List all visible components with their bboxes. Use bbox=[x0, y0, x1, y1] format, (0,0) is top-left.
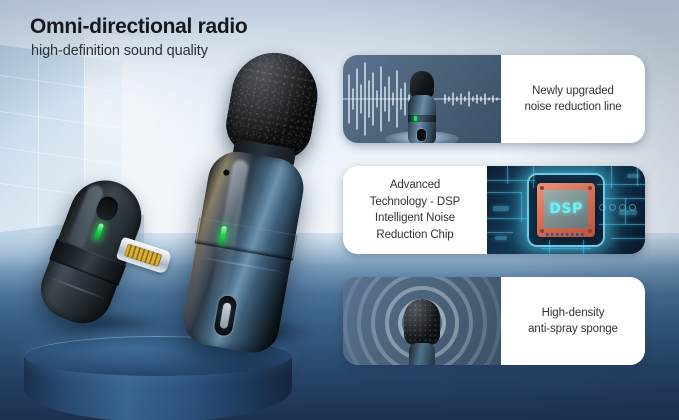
sound-rings-microphone-image bbox=[343, 277, 501, 365]
chip-label: DSP bbox=[549, 201, 582, 217]
page-subtitle: high-definition sound quality bbox=[31, 42, 247, 60]
feature-panel-noise-reduction[interactable]: Newly upgraded noise reduction line bbox=[343, 55, 645, 143]
mini-mic-band bbox=[408, 115, 436, 122]
panel-caption-anti-spray-sponge: High-density anti-spray sponge bbox=[501, 277, 645, 365]
sponge-microphone-graphic bbox=[401, 299, 443, 365]
circuit-board-graphic: DSP bbox=[487, 166, 645, 254]
waveform-mini-microphone bbox=[405, 71, 439, 143]
dsp-circuit-board-image: DSP bbox=[487, 166, 645, 254]
caption-text: Newly upgraded noise reduction line bbox=[524, 83, 621, 116]
panel-caption-noise-reduction: Newly upgraded noise reduction line bbox=[501, 55, 645, 143]
caption-text: High-density anti-spray sponge bbox=[528, 305, 618, 338]
mini-mic-led bbox=[414, 116, 417, 121]
chip-die: DSP bbox=[544, 190, 588, 228]
dsp-chip-icon: DSP bbox=[537, 183, 595, 237]
waveform-microphone-image bbox=[343, 55, 501, 143]
chip-pins bbox=[546, 233, 586, 236]
panel-caption-dsp-chip: Advanced Technology - DSP Intelligent No… bbox=[343, 166, 487, 254]
product-marketing-image: Omni-directional radio high-definition s… bbox=[0, 0, 679, 420]
microphone-lower-body bbox=[409, 343, 435, 365]
caption-text: Advanced Technology - DSP Intelligent No… bbox=[370, 177, 460, 243]
feature-panel-dsp-chip[interactable]: DSP Advanced Technology - DSP Intelligen… bbox=[343, 166, 645, 254]
heading-block: Omni-directional radio high-definition s… bbox=[30, 14, 247, 60]
mini-mic-port bbox=[417, 129, 426, 141]
waveform-graphic bbox=[343, 55, 501, 143]
feature-panel-anti-spray-sponge[interactable]: High-density anti-spray sponge bbox=[343, 277, 645, 365]
microphone-sponge-head bbox=[404, 299, 440, 345]
page-title: Omni-directional radio bbox=[30, 14, 247, 39]
